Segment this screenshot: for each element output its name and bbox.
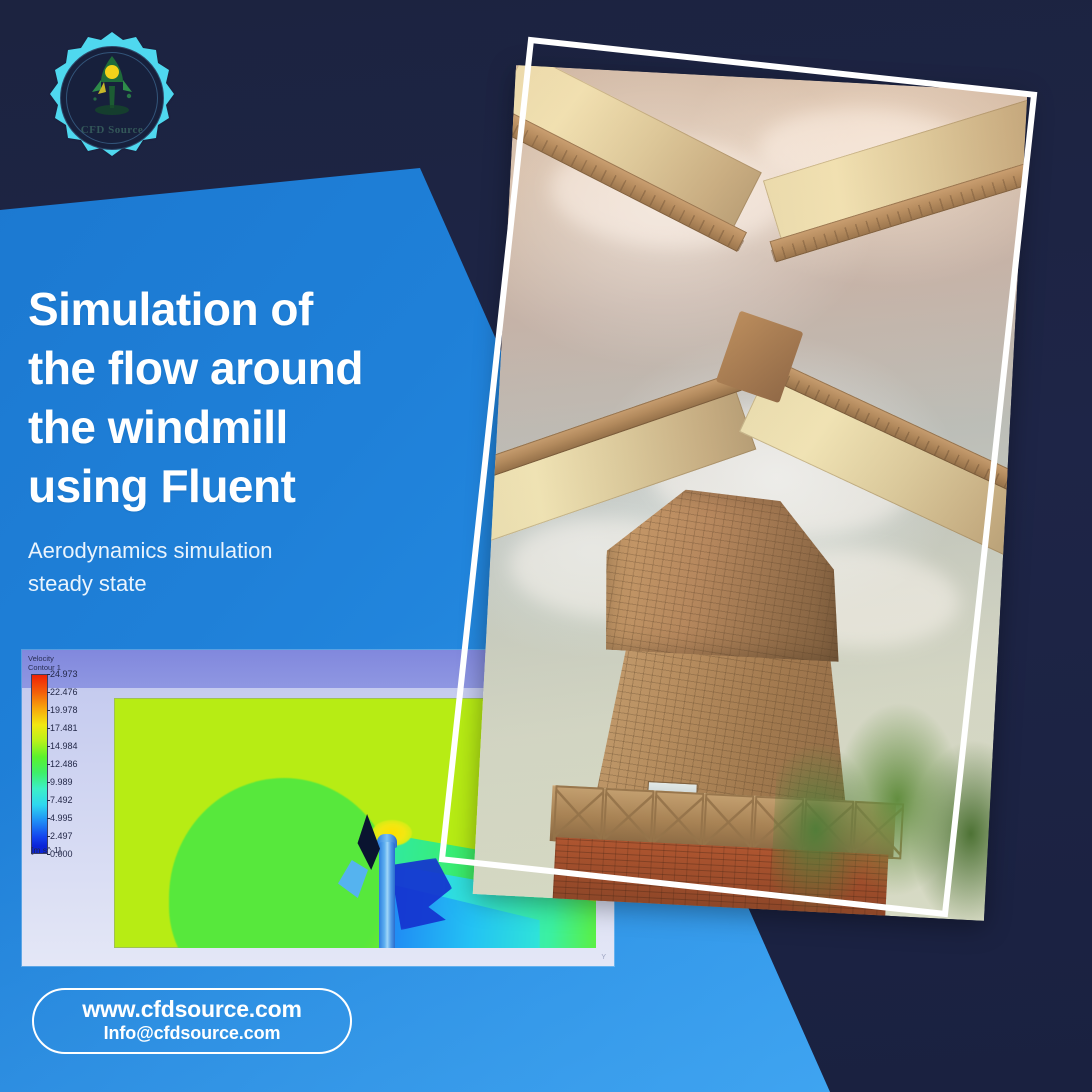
website-url[interactable]: www.cfdsource.com: [82, 997, 301, 1021]
title-line-2: the flow around: [28, 339, 468, 398]
axis-marker-label: Y: [601, 954, 606, 961]
colorbar-units: [m s^-1]: [31, 845, 61, 855]
contour-upstream-bubble: [169, 778, 399, 948]
colorbar-tick-list: 24.973 22.476 19.978 17.481 14.984 12.48…: [50, 670, 106, 858]
logo[interactable]: CFD Source: [42, 28, 182, 168]
logo-wordmark: CFD Source: [42, 124, 182, 136]
contour-mast: [379, 842, 395, 948]
contact-email[interactable]: Info@cfdsource.com: [104, 1023, 281, 1045]
page-subtitle: Aerodynamics simulation steady state: [28, 534, 448, 600]
colorbar-body: 24.973 22.476 19.978 17.481 14.984 12.48…: [28, 674, 104, 854]
logo-turbine-rocket-icon: [68, 52, 156, 118]
subtitle-line-2: steady state: [28, 567, 448, 600]
colorbar-tick: 12.486: [50, 760, 78, 769]
photo-frame-outline: [439, 37, 1038, 917]
colorbar-tick: 24.973: [50, 670, 78, 679]
colorbar-tick: 14.984: [50, 742, 78, 751]
colorbar-gradient: [31, 674, 48, 854]
title-line-4: using Fluent: [28, 457, 468, 516]
colorbar-tick: 4.995: [50, 814, 73, 823]
colorbar-tick: 2.497: [50, 832, 73, 841]
title-line-3: the windmill: [28, 398, 468, 457]
title-line-1: Simulation of: [28, 280, 468, 339]
colorbar-tick: 22.476: [50, 688, 78, 697]
colorbar-legend: Velocity Contour 1 24.973 22.476 19.978 …: [28, 655, 104, 854]
subtitle-line-1: Aerodynamics simulation: [28, 534, 448, 567]
page-title: Simulation of the flow around the windmi…: [28, 280, 468, 516]
colorbar-tick: 7.492: [50, 796, 73, 805]
colorbar-tick: 19.978: [50, 706, 78, 715]
colorbar-tick: 9.989: [50, 778, 73, 787]
colorbar-tick: 17.481: [50, 724, 78, 733]
contact-pill[interactable]: www.cfdsource.com Info@cfdsource.com: [32, 988, 352, 1054]
poster-canvas: CFD Source Simulation of the flow around…: [0, 0, 1092, 1092]
